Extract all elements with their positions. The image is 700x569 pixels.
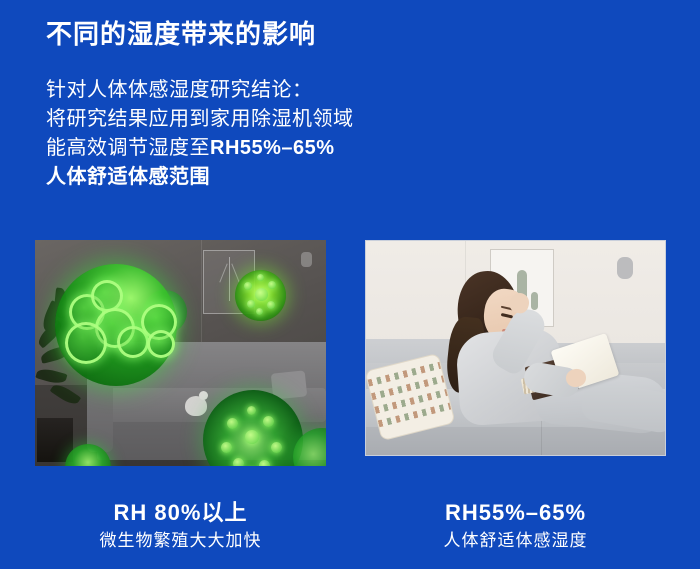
- wall-switch-icon: [301, 252, 312, 267]
- caption-high-humidity: RH 80%以上 微生物繁殖大大加快: [35, 500, 326, 552]
- germ-nub: [245, 430, 259, 444]
- germ-nub: [257, 274, 264, 281]
- dark-vase: [185, 396, 207, 416]
- caption-left-subtitle: 微生物繁殖大大加快: [35, 531, 326, 551]
- germ-nub: [247, 300, 255, 308]
- germ-nub: [221, 442, 232, 453]
- image-high-humidity: [35, 240, 326, 466]
- germ-nub: [259, 460, 270, 466]
- caption-right-subtitle: 人体舒适体感湿度: [365, 531, 666, 551]
- germ-sphere-large: [55, 264, 177, 386]
- germ-sphere-small: [235, 270, 286, 321]
- intro-line-1: 针对人体体感湿度研究结论：: [46, 76, 354, 105]
- bright-room-scene: [366, 241, 665, 455]
- humidity-comparison-slide: 不同的湿度带来的影响 针对人体体感湿度研究结论： 将研究结果应用到家用除湿机领域…: [0, 0, 700, 569]
- intro-line-2: 将研究结果应用到家用除湿机领域: [46, 105, 354, 134]
- germ-nub: [227, 418, 238, 429]
- germ-cell: [91, 280, 123, 312]
- germ-nub: [256, 308, 263, 315]
- germ-nub: [233, 458, 244, 466]
- germ-nub: [267, 301, 275, 309]
- caption-right-title: RH55%–65%: [365, 500, 666, 525]
- germ-nub: [268, 281, 276, 289]
- germ-nub: [263, 416, 274, 427]
- intro-line-3: 能高效调节湿度至RH55%–65%: [46, 134, 354, 163]
- branch-icon: [229, 257, 230, 301]
- intro-line-4: 人体舒适体感范围: [46, 163, 354, 192]
- caption-comfort-humidity: RH55%–65% 人体舒适体感湿度: [365, 500, 666, 552]
- intro-line-3-highlight: RH55%–65%: [210, 137, 335, 159]
- germ-cell: [65, 322, 107, 364]
- caption-left-title: RH 80%以上: [35, 500, 326, 525]
- intro-paragraph: 针对人体体感湿度研究结论： 将研究结果应用到家用除湿机领域 能高效调节湿度至RH…: [46, 76, 354, 192]
- dark-room-scene: [35, 240, 326, 466]
- page-title: 不同的湿度带来的影响: [46, 18, 316, 51]
- germ-nub: [244, 282, 252, 290]
- image-comfort-humidity: [365, 240, 666, 456]
- germ-cell: [147, 330, 175, 358]
- woman-reading: [406, 269, 636, 449]
- germ-nub: [271, 442, 282, 453]
- germ-nub: [247, 406, 256, 415]
- intro-line-3-prefix: 能高效调节湿度至: [46, 137, 210, 159]
- germ-nub: [255, 288, 268, 301]
